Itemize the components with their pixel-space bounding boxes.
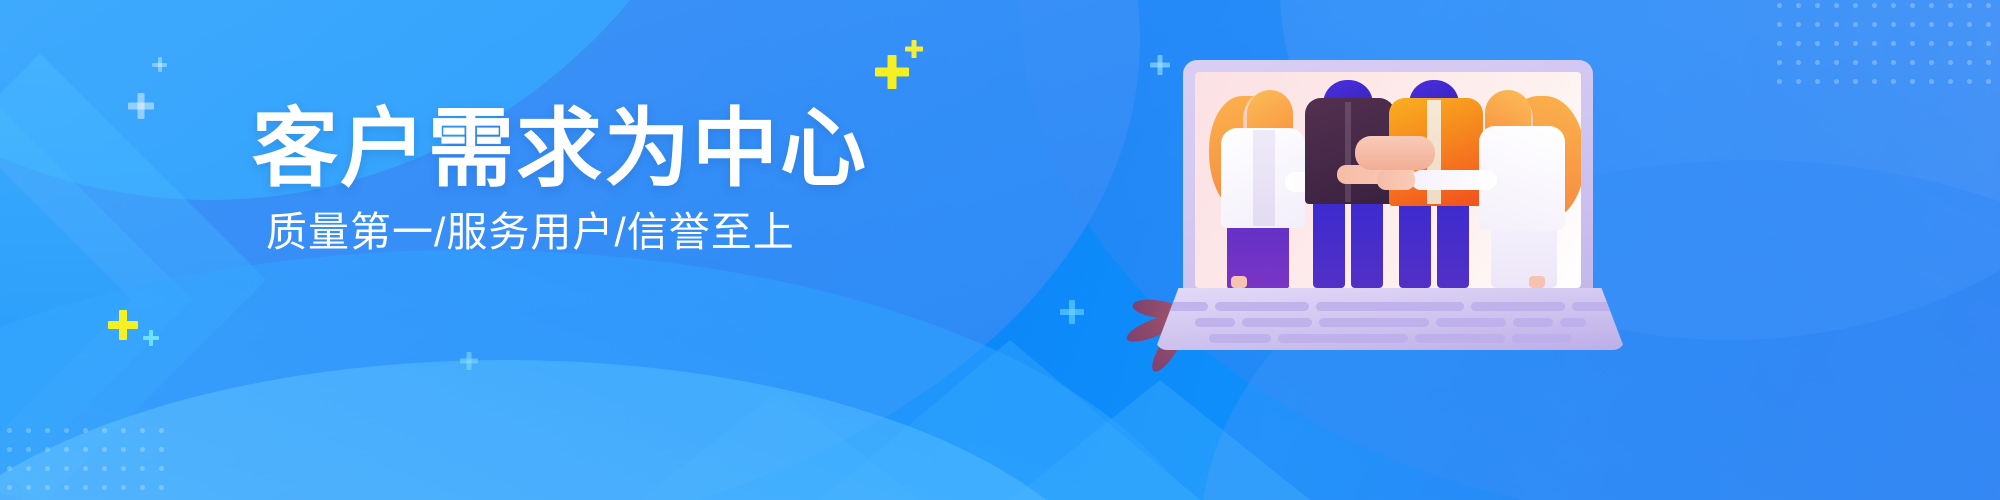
plus-mark-yellow-bottom-icon bbox=[108, 310, 138, 340]
plus-mark-cyan-mid-icon bbox=[1060, 300, 1084, 324]
background-wave-bottom-light bbox=[0, 360, 1130, 500]
team-handshake-laptop-illustration bbox=[1155, 60, 1625, 350]
keyboard-row bbox=[1155, 334, 1625, 343]
laptop-base-keyboard bbox=[1155, 288, 1625, 350]
background-mountain-far bbox=[640, 390, 920, 500]
keyboard-row bbox=[1155, 318, 1625, 327]
stacked-hands bbox=[1355, 136, 1435, 170]
background-chevron-cut bbox=[0, 88, 132, 500]
plus-mark-cyan-far-icon bbox=[460, 352, 478, 370]
keyboard-row bbox=[1155, 302, 1625, 311]
promotional-banner: 客户需求为中心 质量第一/服务用户/信誉至上 bbox=[0, 0, 2000, 500]
background-wave-bottom-left bbox=[0, 250, 1220, 500]
dot-grid-top-right-icon bbox=[1770, 0, 2000, 91]
laptop-lid bbox=[1183, 60, 1593, 300]
laptop-screen bbox=[1195, 72, 1581, 288]
background-chevron-outer bbox=[0, 54, 266, 500]
page-subtitle: 质量第一/服务用户/信誉至上 bbox=[266, 210, 812, 255]
background-mountain-right bbox=[1010, 380, 1310, 500]
dot-grid-bottom-left-icon bbox=[0, 421, 170, 500]
page-title: 客户需求为中心 bbox=[252, 105, 812, 194]
person-woman-right bbox=[1471, 72, 1581, 288]
plus-mark-yellow-large-icon bbox=[875, 55, 909, 89]
plus-mark-white-left-top-icon bbox=[128, 93, 154, 119]
background-chevron-inner bbox=[0, 88, 192, 500]
background-mountain-left bbox=[820, 340, 1200, 500]
plus-mark-yellow-small-icon bbox=[905, 40, 923, 58]
plus-mark-white-left-small-icon bbox=[152, 57, 167, 72]
plus-mark-cyan-bottom-icon bbox=[143, 330, 159, 346]
banner-text-block: 客户需求为中心 质量第一/服务用户/信誉至上 bbox=[252, 105, 812, 256]
